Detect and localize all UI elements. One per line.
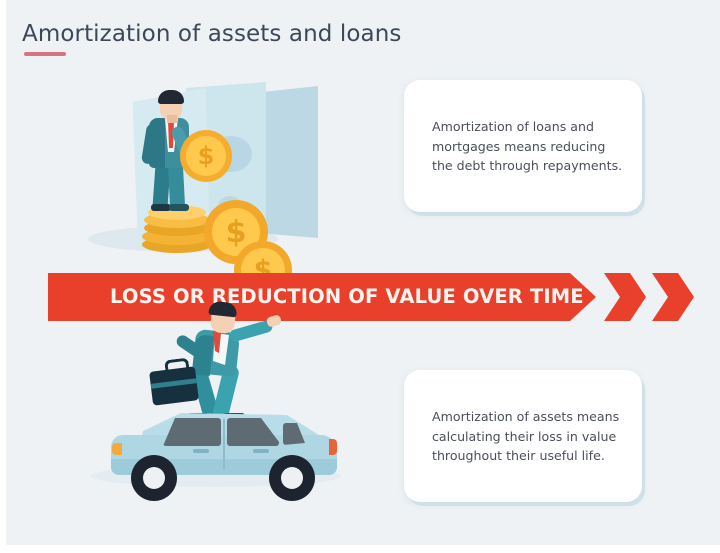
hand-pointing (266, 314, 282, 327)
car-door-seam (223, 419, 225, 469)
money-illustration: $ $ $ (106, 78, 336, 278)
page-title: Amortization of assets and loans (22, 20, 542, 48)
car-wheel-hub (143, 467, 165, 489)
shoe-back (151, 204, 171, 211)
car-headlight (112, 443, 122, 455)
chevron-right-icon (652, 273, 694, 321)
shoe-front (169, 204, 189, 211)
chevron-right-icon (604, 273, 646, 321)
car-door-handle (253, 449, 269, 453)
car-taillight (329, 439, 337, 455)
car-wheel-hub (281, 467, 303, 489)
info-card-assets[interactable]: Amortization of assets means calculating… (404, 370, 642, 502)
info-card-loans-text: Amortization of loans and mortgages mean… (432, 117, 624, 176)
infographic-canvas: Amortization of assets and loans (0, 0, 720, 553)
info-card-loans[interactable]: Amortization of loans and mortgages mean… (404, 80, 642, 212)
car-illustration (101, 315, 361, 500)
hair (158, 90, 184, 104)
value-loss-banner: LOSS OR REDUCTION OF VALUE OVER TIME (48, 273, 684, 321)
banner-label: LOSS OR REDUCTION OF VALUE OVER TIME (110, 273, 584, 321)
car-wheel-front (131, 455, 177, 501)
coin-held: $ (180, 130, 232, 182)
car-wheel-rear (269, 455, 315, 501)
briefcase-handle-icon (164, 358, 190, 376)
title-underline-accent (24, 52, 66, 56)
neck (167, 115, 177, 123)
car-door-handle (193, 449, 209, 453)
coin-dollar-sign: $ (180, 130, 232, 182)
title-block: Amortization of assets and loans (22, 20, 542, 56)
info-card-assets-text: Amortization of assets means calculating… (432, 407, 624, 466)
